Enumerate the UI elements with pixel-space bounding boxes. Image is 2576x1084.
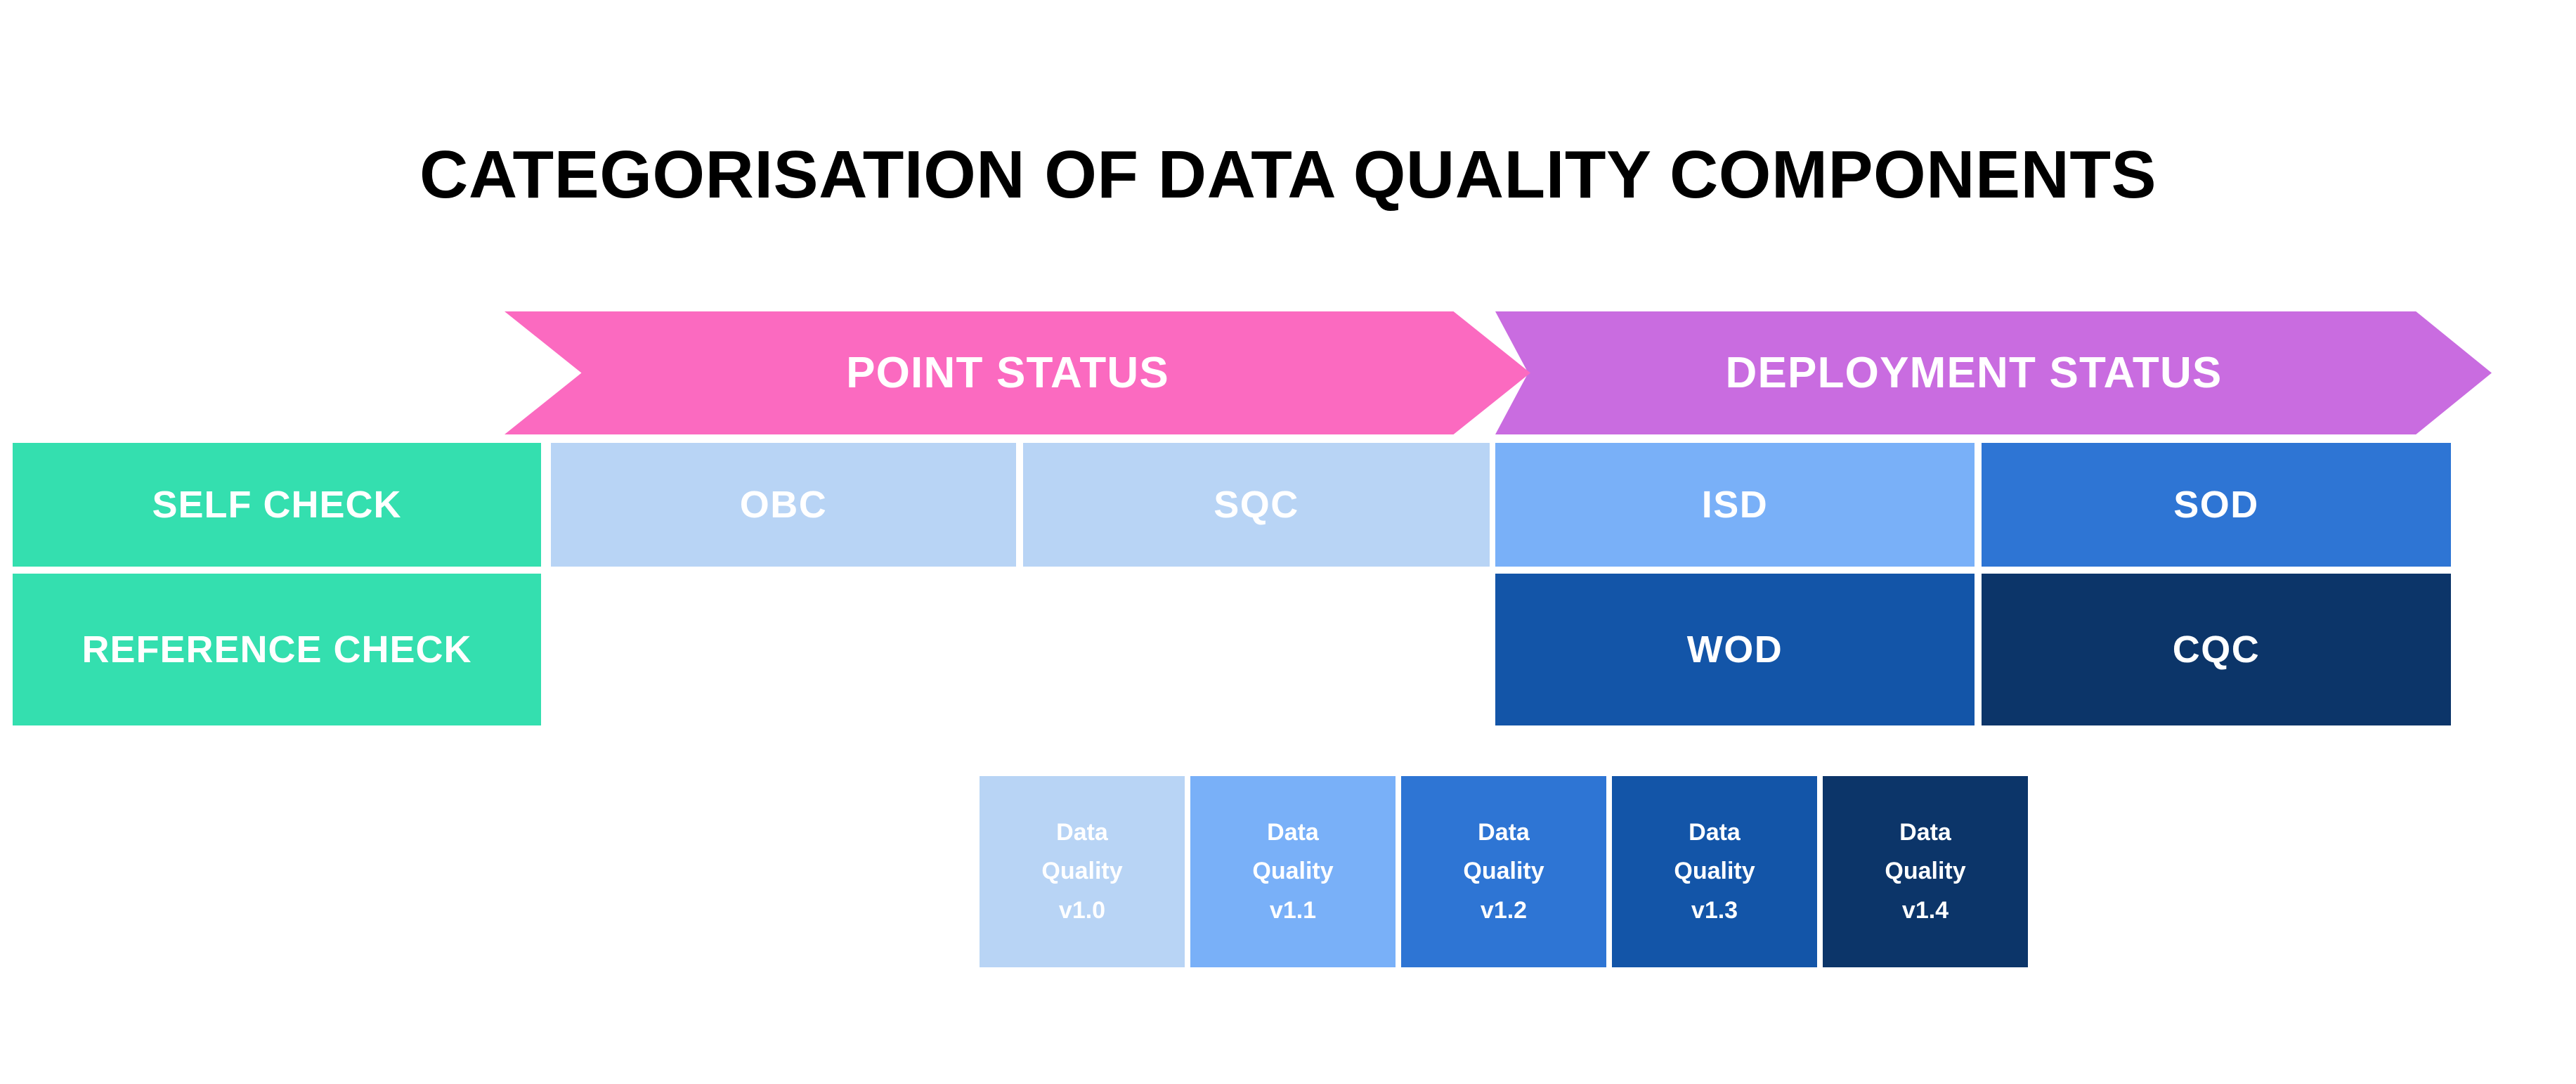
legend-item-v1-4: Data Quality v1.4 — [1823, 776, 2028, 967]
banner-point-status: POINT STATUS — [505, 311, 1530, 434]
banner-deployment-status: DEPLOYMENT STATUS — [1495, 311, 2492, 434]
legend-item-v1-0-line3: v1.0 — [1059, 891, 1105, 930]
legend-item-v1-0: Data Quality v1.0 — [980, 776, 1185, 967]
legend-item-v1-2-line3: v1.2 — [1481, 891, 1527, 930]
page-title: CATEGORISATION OF DATA QUALITY COMPONENT… — [0, 138, 2576, 212]
legend-item-v1-4-line3: v1.4 — [1902, 891, 1949, 930]
legend-item-v1-2-line1: Data — [1478, 813, 1530, 852]
cell-obc: OBC — [551, 443, 1016, 567]
legend-item-v1-3-line2: Quality — [1674, 852, 1755, 891]
cell-isd: ISD — [1495, 443, 1975, 567]
cell-self-check: SELF CHECK — [13, 443, 541, 567]
banner-point-status-label: POINT STATUS — [846, 348, 1169, 398]
legend-item-v1-1-line1: Data — [1267, 813, 1319, 852]
legend-item-v1-4-line2: Quality — [1885, 852, 1965, 891]
cell-obc-label: OBC — [740, 483, 828, 527]
cell-sod-label: SOD — [2173, 483, 2259, 527]
banner-deployment-status-label: DEPLOYMENT STATUS — [1725, 348, 2222, 398]
legend-item-v1-3-line1: Data — [1689, 813, 1741, 852]
cell-wod: WOD — [1495, 574, 1975, 725]
cell-reference-check: REFERENCE CHECK — [13, 574, 541, 725]
cell-self-check-label: SELF CHECK — [152, 483, 401, 527]
cell-cqc: CQC — [1982, 574, 2451, 725]
cell-sod: SOD — [1982, 443, 2451, 567]
legend-item-v1-3-line3: v1.3 — [1691, 891, 1738, 930]
legend-item-v1-0-line2: Quality — [1041, 852, 1122, 891]
legend-item-v1-3: Data Quality v1.3 — [1612, 776, 1817, 967]
cell-wod-label: WOD — [1687, 628, 1783, 671]
legend-item-v1-1-line2: Quality — [1252, 852, 1333, 891]
legend-item-v1-1: Data Quality v1.1 — [1190, 776, 1396, 967]
legend-item-v1-4-line1: Data — [1899, 813, 1951, 852]
legend-item-v1-1-line3: v1.1 — [1270, 891, 1316, 930]
cell-sqc: SQC — [1023, 443, 1490, 567]
legend-item-v1-0-line1: Data — [1056, 813, 1108, 852]
legend-item-v1-2: Data Quality v1.2 — [1401, 776, 1606, 967]
cell-reference-check-label: REFERENCE CHECK — [82, 628, 471, 671]
cell-isd-label: ISD — [1702, 483, 1769, 527]
legend-version-scale: Data Quality v1.0 Data Quality v1.1 Data… — [980, 776, 2028, 967]
cell-cqc-label: CQC — [2173, 628, 2260, 671]
legend-item-v1-2-line2: Quality — [1463, 852, 1544, 891]
cell-sqc-label: SQC — [1214, 483, 1299, 527]
